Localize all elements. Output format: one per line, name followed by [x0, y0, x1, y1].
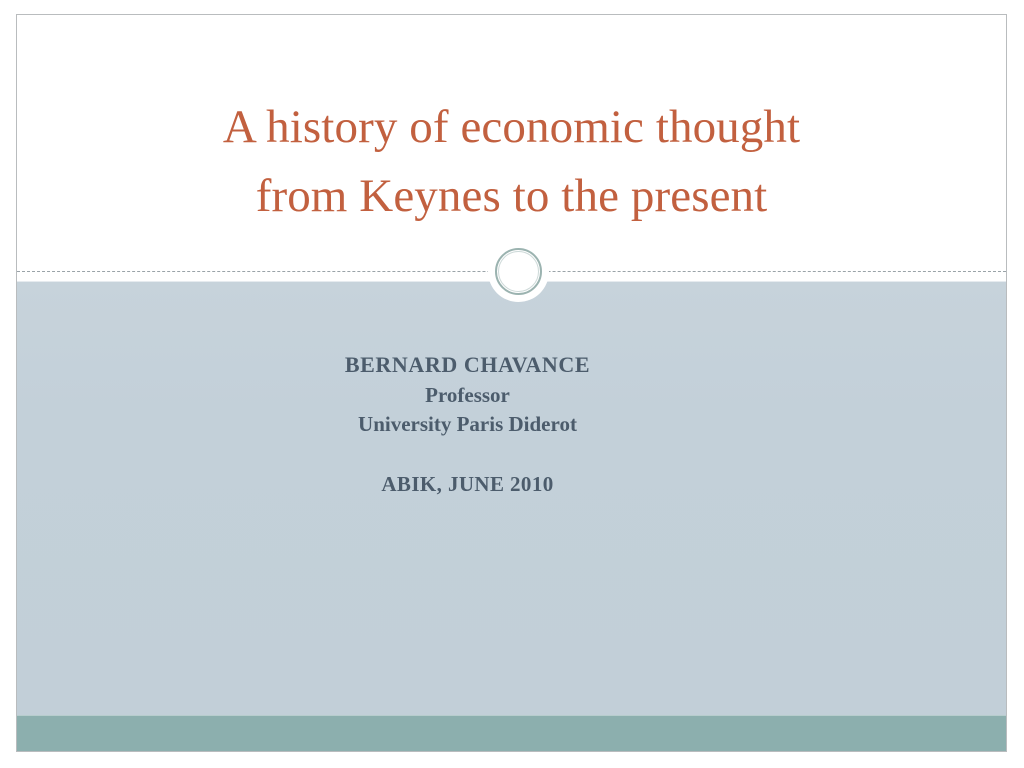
ring-ornament-icon [488, 241, 549, 302]
subtitle-block: BERNARD CHAVANCE Professor University Pa… [17, 354, 1006, 495]
presenter-role: Professor [17, 385, 918, 406]
content-panel: BERNARD CHAVANCE Professor University Pa… [17, 281, 1006, 715]
ring-inner-stroke-icon [498, 251, 539, 292]
presenter-name: BERNARD CHAVANCE [17, 354, 918, 376]
slide-frame: A history of economic thought from Keyne… [16, 14, 1007, 752]
bottom-accent-bar [17, 715, 1006, 751]
bottom-accent-bar-highlight [17, 715, 1006, 716]
event-info: ABIK, JUNE 2010 [17, 474, 918, 495]
title-area: A history of economic thought from Keyne… [17, 15, 1006, 271]
slide-root: A history of economic thought from Keyne… [0, 0, 1024, 768]
page-title: A history of economic thought from Keyne… [17, 93, 1006, 231]
presenter-affiliation: University Paris Diderot [17, 414, 918, 435]
